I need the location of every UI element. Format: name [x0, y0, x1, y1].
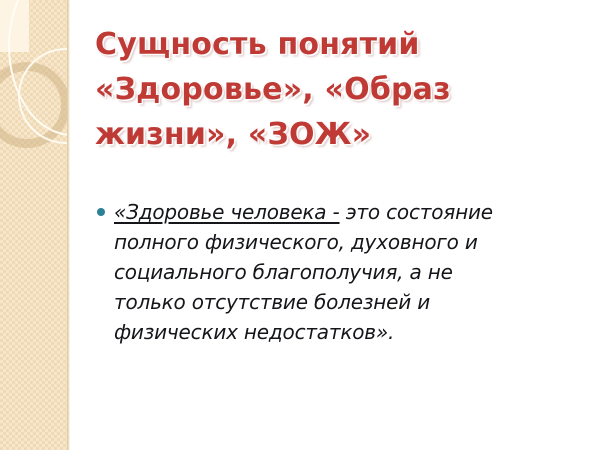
body-line-5: физических недостатков». [114, 317, 587, 347]
body-line-3: социального благополучия, а не [114, 257, 587, 287]
title-line-2: «Здоровье», «Образ [95, 67, 575, 112]
slide-title: Сущность понятий «Здоровье», «Образ жизн… [95, 22, 575, 157]
bullet-dot-icon [97, 208, 105, 216]
bullet-list-item: «Здоровье человека - это состояние полно… [97, 197, 587, 347]
body-line-4: только отсутствие болезней и [114, 287, 587, 317]
body-line-1-rest: это состояние [340, 200, 493, 224]
decorative-sidebar [0, 0, 70, 450]
title-line-3: жизни», «ЗОЖ» [95, 112, 575, 157]
slide-body: «Здоровье человека - это состояние полно… [97, 197, 587, 347]
title-line-1: Сущность понятий [95, 22, 575, 67]
sidebar-edge-divider [67, 0, 70, 450]
body-underlined-lead: «Здоровье человека - [114, 200, 340, 224]
body-line-1: «Здоровье человека - это состояние [114, 197, 587, 227]
slide-canvas: Сущность понятий «Здоровье», «Образ жизн… [0, 0, 600, 450]
body-line-2: полного физического, духовного и [114, 227, 587, 257]
bullet-item-text: «Здоровье человека - это состояние полно… [114, 197, 587, 347]
